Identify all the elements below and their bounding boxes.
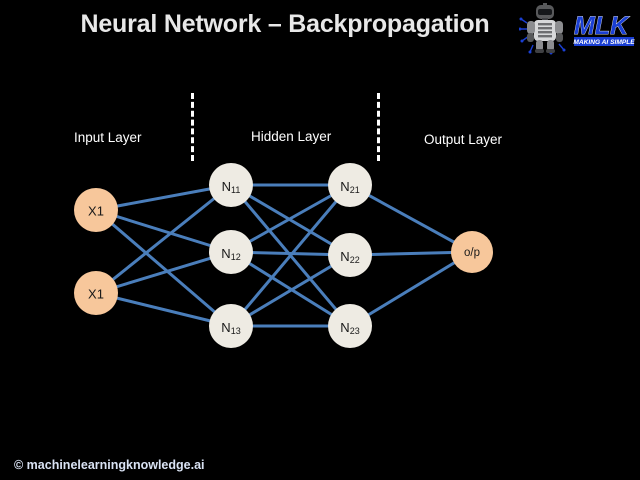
slide-canvas: Neural Network – Backpropagation xyxy=(0,0,640,480)
node-label: o/p xyxy=(464,247,480,259)
node-n22[interactable]: N22 xyxy=(328,233,372,277)
edge-x1b-n11 xyxy=(96,185,231,293)
node-label: X1 xyxy=(88,204,104,219)
neural-network-diagram: X1X1N11N12N13N21N22N23o/p xyxy=(0,0,640,480)
node-n11[interactable]: N11 xyxy=(209,163,253,207)
edges-group xyxy=(96,185,472,326)
node-n13[interactable]: N13 xyxy=(209,304,253,348)
nodes-group: X1X1N11N12N13N21N22N23o/p xyxy=(74,163,493,348)
node-label: X1 xyxy=(88,287,104,302)
node-op[interactable]: o/p xyxy=(451,231,493,273)
node-n21[interactable]: N21 xyxy=(328,163,372,207)
node-x1b[interactable]: X1 xyxy=(74,271,118,315)
node-x1a[interactable]: X1 xyxy=(74,188,118,232)
copyright-footer: © machinelearningknowledge.ai xyxy=(14,458,205,472)
node-n23[interactable]: N23 xyxy=(328,304,372,348)
node-n12[interactable]: N12 xyxy=(209,230,253,274)
